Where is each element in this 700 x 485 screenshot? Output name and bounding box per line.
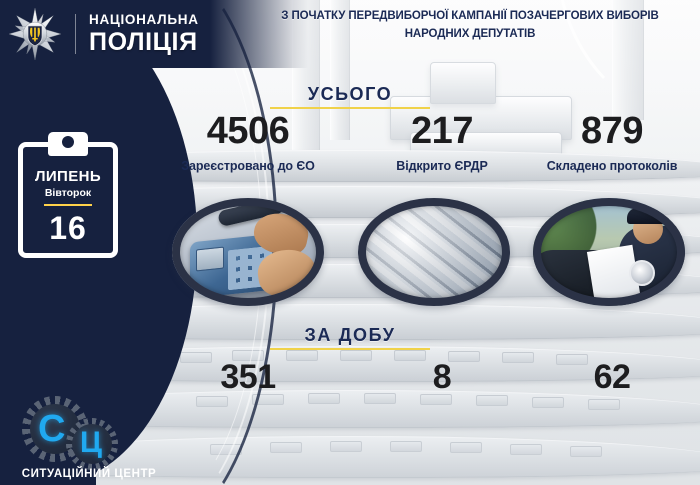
date-card: ЛИПЕНЬ Вівторок 16 [18,132,118,258]
section-heading-daily: ЗА ДОБУ [220,325,480,350]
section-heading-total-text: УСЬОГО [220,84,480,105]
section-heading-daily-text: ЗА ДОБУ [220,325,480,346]
situation-centre-gears-icon: С Ц СИТУАЦІЙНИЙ ЦЕНТР [14,396,164,476]
page-title: З ПОЧАТКУ ПЕРЕДВИБОРЧОЇ КАМПАНІЇ ПОЗАЧЕР… [250,8,690,44]
stat-value: 351 [148,360,348,394]
section-heading-total-underline [270,107,430,109]
police-star-tryzub-icon [8,7,62,61]
stat-total-registered: 4506 Зареєстровано до ЄО [148,112,348,173]
brand-block: НАЦІОНАЛЬНА ПОЛІЦІЯ [0,0,250,68]
date-divider [44,204,92,206]
footer-caption: СИТУАЦІЙНИЙ ЦЕНТР [14,468,164,480]
org-name-line1: НАЦІОНАЛЬНА [89,13,199,27]
logo-glyph-ts: Ц [80,428,102,458]
stat-label: Складено протоколів [512,159,700,173]
stat-total-protocols: 879 Складено протоколів [512,112,700,173]
stat-value: 879 [512,112,700,150]
clipboard-ring-icon [62,136,74,148]
section-heading-total: УСЬОГО [220,84,480,109]
stat-label: Зареєстровано до ЄО [148,159,348,173]
stat-value: 4506 [148,112,348,150]
org-name-line2: ПОЛІЦІЯ [89,30,199,55]
infographic-root: НАЦІОНАЛЬНА ПОЛІЦІЯ З ПОЧАТКУ ПЕРЕДВИБОР… [0,0,700,485]
date-month: ЛИПЕНЬ [18,168,118,185]
documents-stack-photo [358,198,510,306]
phone-call-photo [172,198,324,306]
date-day: 16 [18,210,118,247]
brand-text: НАЦІОНАЛЬНА ПОЛІЦІЯ [89,13,199,55]
logo-glyph-c: С [38,410,65,448]
stat-daily-protocols: 62 [512,360,700,394]
stat-daily-registered: 351 [148,360,348,394]
stat-value: 62 [512,360,700,394]
section-heading-daily-underline [270,348,430,350]
brand-divider [75,14,76,54]
police-officer-photo [533,198,685,306]
date-weekday: Вівторок [18,187,118,199]
